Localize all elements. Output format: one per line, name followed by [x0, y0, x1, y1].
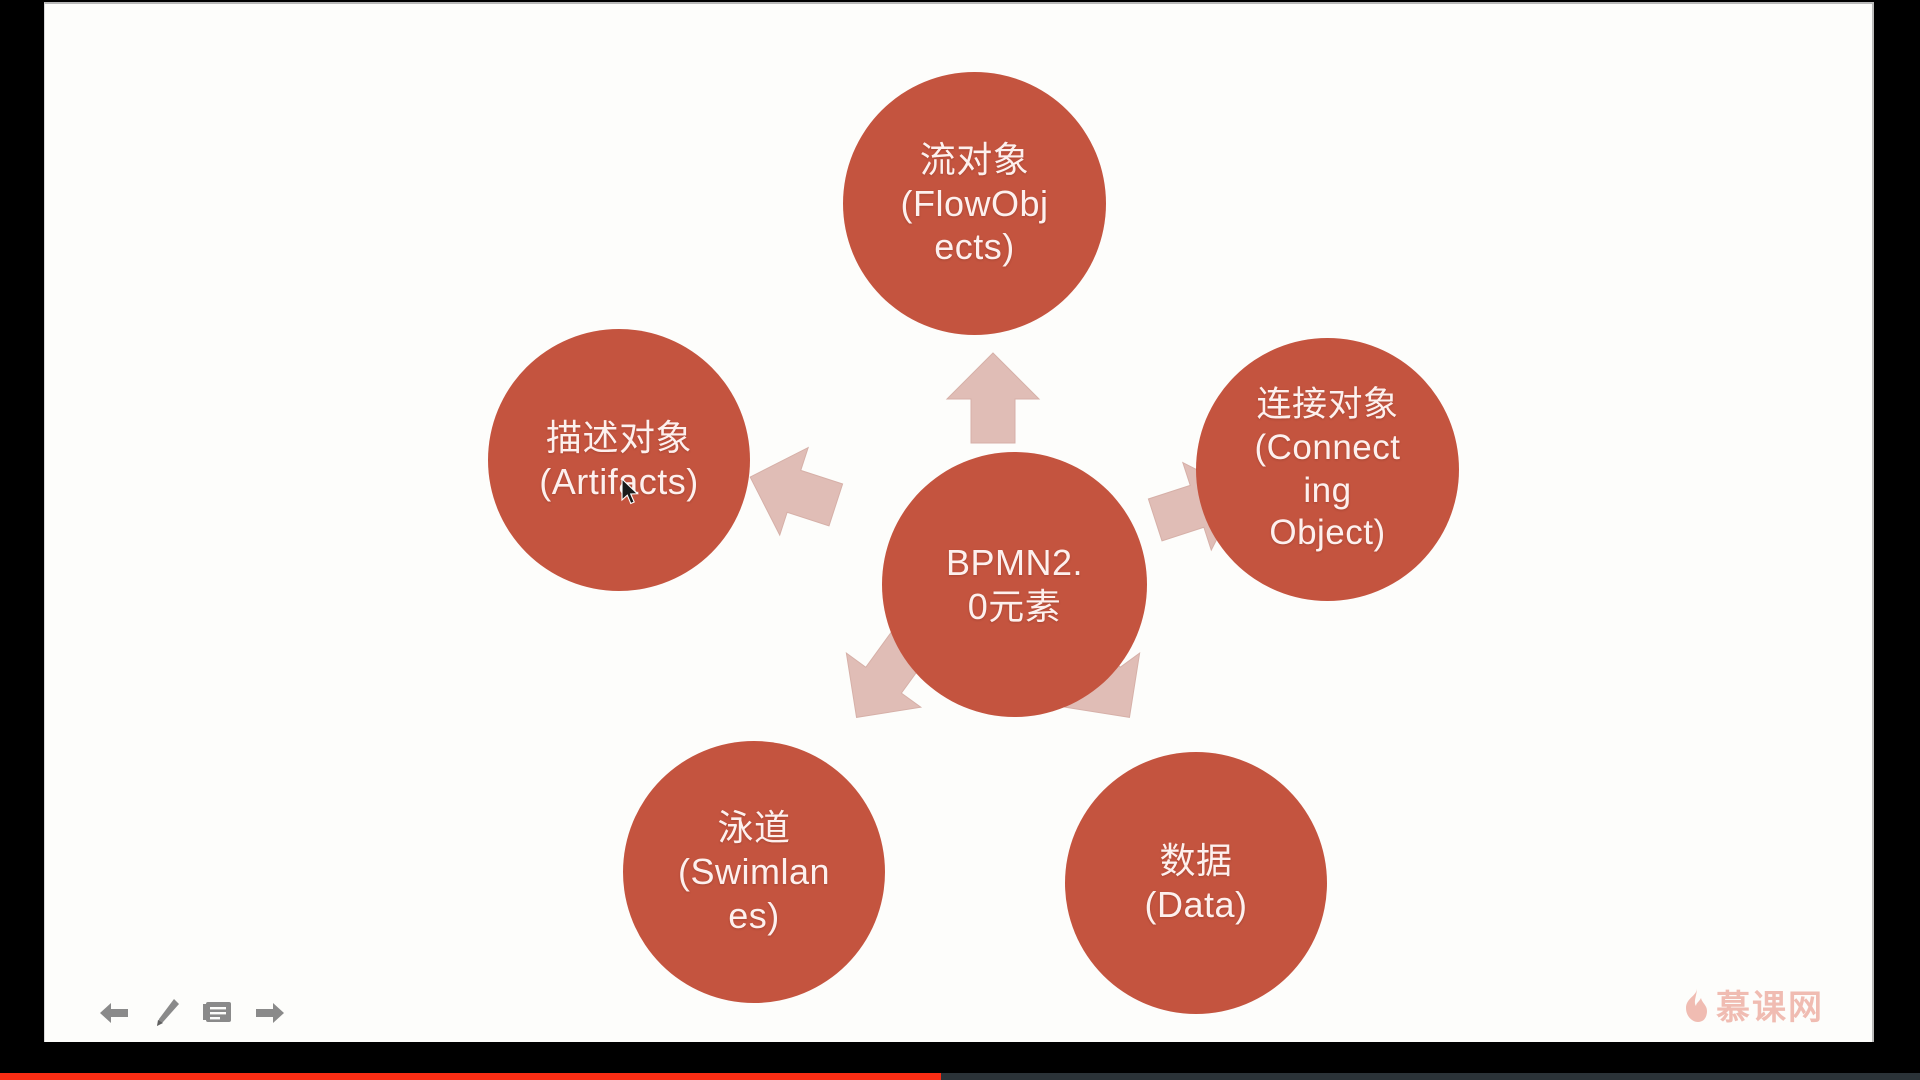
node-flow-objects-line-3: ects): [934, 225, 1015, 269]
node-data-line-2: (Data): [1144, 883, 1247, 927]
node-data[interactable]: 数据 (Data): [1065, 752, 1327, 1014]
node-artifacts-line-2: (Artifacts): [539, 460, 699, 504]
node-data-line-1: 数据: [1159, 839, 1232, 883]
node-flow-objects[interactable]: 流对象 (FlowObj ects): [843, 72, 1106, 335]
node-swimlanes-line-1: 泳道: [717, 806, 790, 850]
node-flow-objects-line-2: (FlowObj: [900, 182, 1048, 226]
node-bpmn-center-line-2: 0元素: [968, 585, 1062, 629]
arrow-left-icon[interactable]: [97, 996, 131, 1030]
node-flow-objects-line-1: 流对象: [920, 138, 1030, 182]
node-connecting-object-line-1: 连接对象: [1256, 384, 1398, 427]
node-connecting-object-line-2: (Connect: [1254, 427, 1400, 470]
arrow-up-icon: [945, 351, 1041, 445]
node-swimlanes[interactable]: 泳道 (Swimlan es): [623, 741, 885, 1003]
presentation-slide: 流对象 (FlowObj ects) 连接对象 (Connect ing Obj…: [44, 2, 1874, 1042]
node-connecting-object-line-4: Object): [1269, 512, 1385, 555]
node-swimlanes-line-3: es): [728, 894, 780, 938]
node-swimlanes-line-2: (Swimlan: [678, 850, 830, 894]
node-connecting-object[interactable]: 连接对象 (Connect ing Object): [1196, 338, 1459, 601]
node-bpmn-center[interactable]: BPMN2. 0元素: [882, 452, 1147, 717]
watermark-text: 慕课网: [1716, 991, 1824, 1025]
flame-icon: [1680, 987, 1708, 1028]
arrow-upper-left-icon: [745, 444, 841, 538]
node-artifacts[interactable]: 描述对象 (Artifacts): [488, 329, 750, 591]
video-player-screen: 流对象 (FlowObj ects) 连接对象 (Connect ing Obj…: [0, 0, 1920, 1080]
mouse-cursor: [621, 478, 643, 508]
node-bpmn-center-line-1: BPMN2.: [946, 541, 1083, 585]
video-progress-fill: [0, 1073, 941, 1080]
slide-toolbar: [97, 996, 287, 1030]
bpmn-elements-diagram: 流对象 (FlowObj ects) 连接对象 (Connect ing Obj…: [45, 4, 1872, 1042]
arrow-right-icon[interactable]: [253, 996, 287, 1030]
pen-icon[interactable]: [149, 996, 183, 1030]
video-progress-track[interactable]: [0, 1073, 1920, 1080]
node-artifacts-line-1: 描述对象: [546, 416, 692, 460]
notes-icon[interactable]: [201, 996, 235, 1030]
watermark: 慕课网: [1680, 987, 1824, 1028]
node-connecting-object-line-3: ing: [1303, 470, 1351, 513]
